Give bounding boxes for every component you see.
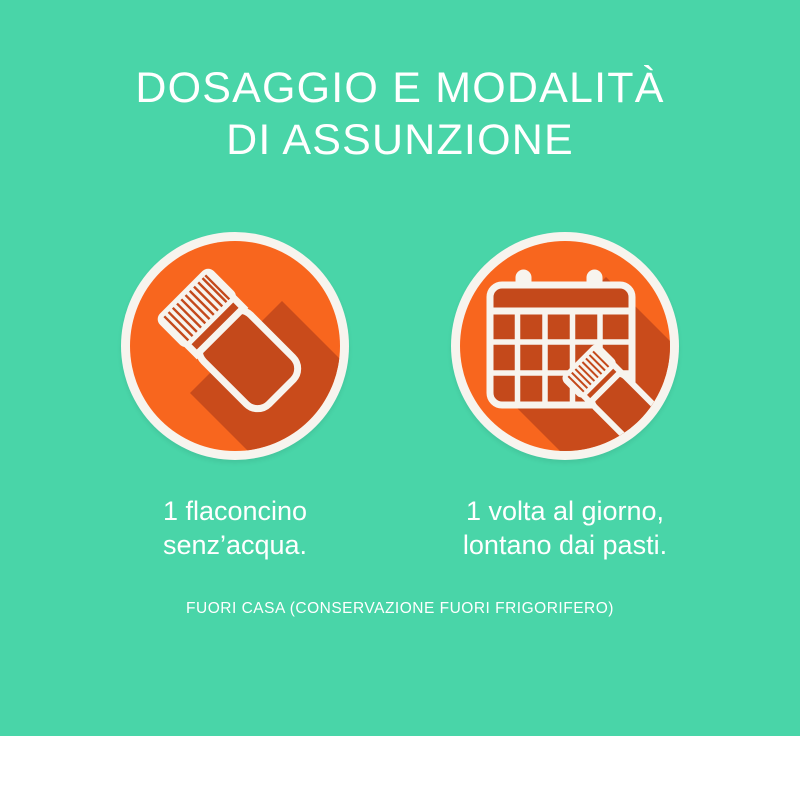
badge-calendar-circle xyxy=(460,241,670,451)
footer-bar: INTEGRATORE ALIMENTARE. LEGGERE ATTENTAM… xyxy=(0,736,800,800)
caption-calendar-line-2: lontano dai pasti. xyxy=(431,528,699,562)
caption-calendar-line-1: 1 volta al giorno, xyxy=(431,494,699,528)
caption-vial-line-2: senz’acqua. xyxy=(101,528,369,562)
page-title: DOSAGGIO E MODALITÀ DI ASSUNZIONE xyxy=(0,62,800,166)
page-title-line-2: DI ASSUNZIONE xyxy=(0,114,800,166)
icon-badge-row xyxy=(0,232,800,462)
caption-vial: 1 flaconcino senz’acqua. xyxy=(101,494,369,562)
badge-calendar xyxy=(451,232,679,460)
badge-vial xyxy=(121,232,349,460)
infographic-poster: DOSAGGIO E MODALITÀ DI ASSUNZIONE xyxy=(0,0,800,800)
caption-calendar: 1 volta al giorno, lontano dai pasti. xyxy=(431,494,699,562)
vial-icon xyxy=(130,241,340,451)
caption-vial-line-1: 1 flaconcino xyxy=(101,494,369,528)
calendar-with-vial-icon xyxy=(460,241,670,451)
page-title-line-1: DOSAGGIO E MODALITÀ xyxy=(0,62,800,114)
badge-vial-circle xyxy=(130,241,340,451)
storage-note: FUORI CASA (CONSERVAZIONE FUORI FRIGORIF… xyxy=(0,600,800,618)
